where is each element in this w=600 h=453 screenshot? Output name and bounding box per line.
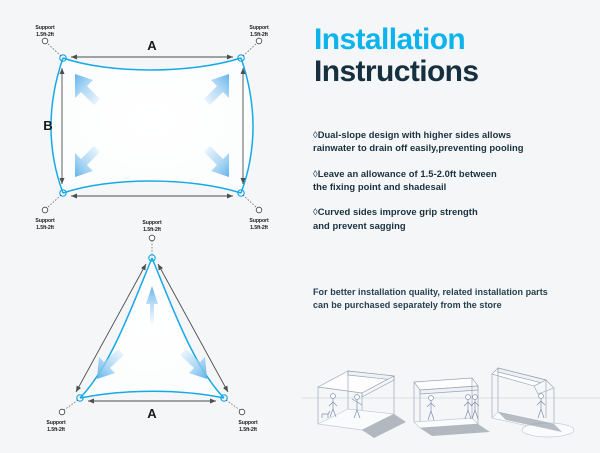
support-label-bottom-right-line2: 1.5ft-2ft <box>250 225 268 231</box>
support-label-top-right-line1: Support <box>249 25 269 31</box>
text-panel: Installation Instructions ◊Dual-slope de… <box>300 0 600 450</box>
support-anchor-top-left <box>42 38 48 44</box>
bullet-1-line2: rainwater to drain off easily,preventing… <box>313 141 595 154</box>
support-anchor-bottom-left <box>42 207 48 213</box>
list-item: ◊Curved sides improve grip strength and … <box>313 205 595 232</box>
triangle-dimension-a: A <box>88 401 216 421</box>
footnote-line1: For better installation quality, related… <box>313 287 548 297</box>
bullet-3-line1: Curved sides improve grip strength <box>318 206 478 217</box>
support-label-tri-bottom-left-line1: Support <box>46 420 66 426</box>
support-label-tri-bottom-right-line2: 1.5ft-2ft <box>239 427 257 433</box>
installation-scene-svg <box>302 352 600 448</box>
page-root: Support 1.5ft-2ft Support 1.5ft-2ft Supp… <box>0 0 600 450</box>
support-anchor-top-right <box>256 38 262 44</box>
support-anchor-bottom-right <box>256 207 262 213</box>
scene-structure-right <box>492 368 574 437</box>
scene-structure-middle <box>414 378 490 436</box>
page-title-line2: Instructions <box>314 56 478 88</box>
bullet-2-line2: the fixing point and shadesail <box>313 180 595 193</box>
scene-structure-left <box>318 371 406 438</box>
support-label-bottom-left-line2: 1.5ft-2ft <box>36 225 54 231</box>
square-dimension-a: A <box>71 38 233 57</box>
support-label-apex-line1: Support <box>142 220 162 226</box>
support-anchor-tri-bottom-left <box>59 409 65 415</box>
list-item: ◊Leave an allowance of 1.5-2.0ft between… <box>313 167 595 194</box>
page-title: Installation Instructions <box>314 24 478 88</box>
page-title-line1: Installation <box>314 24 478 56</box>
diagrams-panel: Support 1.5ft-2ft Support 1.5ft-2ft Supp… <box>0 0 300 450</box>
support-label-top-left-line1: Support <box>35 25 55 31</box>
bullet-2-line1: Leave an allowance of 1.5-2.0ft between <box>318 168 497 179</box>
support-label-top-right-line2: 1.5ft-2ft <box>250 32 268 38</box>
dimension-label-a: A <box>147 38 157 53</box>
list-item: ◊Dual-slope design with higher sides all… <box>313 128 595 155</box>
bullet-3-line2: and prevent sagging <box>313 219 595 232</box>
support-label-bottom-right-line1: Support <box>249 218 269 224</box>
shade-sail-diagrams-svg: Support 1.5ft-2ft Support 1.5ft-2ft Supp… <box>0 0 300 450</box>
support-label-bottom-left-line1: Support <box>35 218 55 224</box>
triangle-sail-group: Support 1.5ft-2ft Support 1.5ft-2ft Supp… <box>46 220 258 433</box>
footnote-line2: can be purchased separately from the sto… <box>313 299 598 312</box>
support-label-tri-bottom-left-line2: 1.5ft-2ft <box>47 427 65 433</box>
instruction-bullet-list: ◊Dual-slope design with higher sides all… <box>313 128 595 244</box>
dimension-label-tri-a: A <box>147 406 157 421</box>
bullet-1-line1: Dual-slope design with higher sides allo… <box>318 129 511 140</box>
support-anchor-apex <box>149 235 155 241</box>
square-sail-group: Support 1.5ft-2ft Support 1.5ft-2ft Supp… <box>35 25 269 231</box>
support-label-top-left-line2: 1.5ft-2ft <box>36 32 54 38</box>
support-label-apex-line2: 1.5ft-2ft <box>143 227 161 233</box>
dimension-label-b: B <box>43 118 52 133</box>
store-footnote: For better installation quality, related… <box>313 286 598 313</box>
support-anchor-tri-bottom-right <box>239 409 245 415</box>
support-label-tri-bottom-right-line1: Support <box>238 420 258 426</box>
installation-scene-illustration <box>302 352 600 448</box>
